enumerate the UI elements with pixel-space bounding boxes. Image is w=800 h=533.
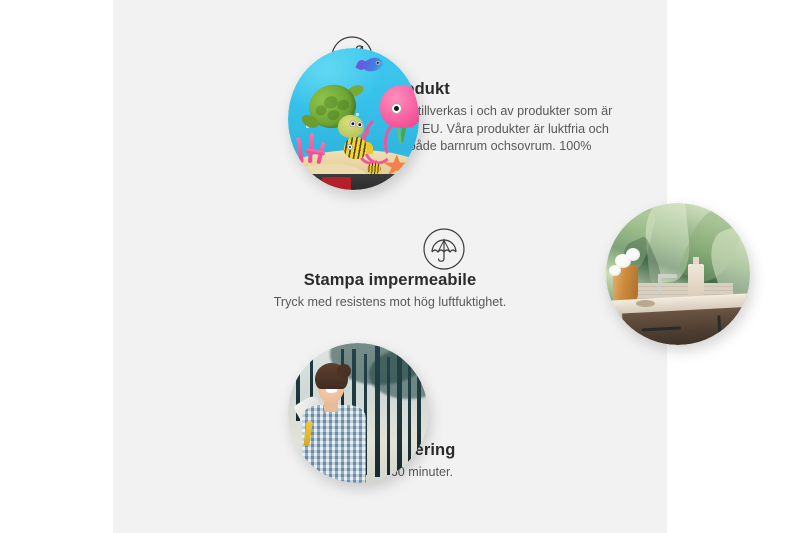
- octopus-head: [380, 85, 419, 128]
- turtle-eye: [349, 119, 357, 127]
- product-features-panel: Luktfri produkt Alla våra tavlor tillver…: [113, 0, 667, 533]
- feature-body: Tryck med resistens mot hög luftfuktighe…: [113, 294, 667, 312]
- left-white-margin: [0, 0, 113, 533]
- tree-trunk: [397, 349, 402, 475]
- shell-cell: [326, 108, 341, 121]
- turtle-pupil: [351, 122, 354, 125]
- turtle-pupil: [358, 123, 361, 126]
- yellow-fish: [344, 137, 366, 158]
- small-fish: [367, 163, 381, 174]
- tree-trunk: [417, 351, 421, 474]
- faucet-body: [658, 274, 662, 294]
- bathroom-scene-clip: [606, 203, 750, 345]
- feature-title: Stampa impermeabile: [113, 271, 667, 290]
- ocean-red-accent: [322, 177, 351, 190]
- underwater-scene-clip: [288, 48, 419, 190]
- fish-pupil: [349, 146, 351, 148]
- woman-scene-clip: [288, 343, 428, 483]
- fish-pupil: [376, 61, 378, 63]
- shell-cell: [336, 98, 350, 111]
- octopus-eye: [391, 103, 402, 114]
- plaid-shirt: [302, 405, 366, 483]
- tree-trunk: [387, 357, 390, 475]
- turtle-eye: [356, 121, 364, 129]
- hair-bun: [337, 364, 351, 378]
- soap-dispenser: [688, 264, 704, 295]
- bathroom-wallpaper-photo: [606, 203, 750, 345]
- wood-vanity: [622, 306, 750, 345]
- tree-trunk: [375, 346, 380, 478]
- woman-with-roller-photo: [288, 343, 428, 483]
- drawer-handle: [642, 326, 682, 331]
- fish-eye: [347, 144, 353, 150]
- umbrella-icon: [422, 227, 466, 271]
- tree-trunk: [310, 346, 313, 402]
- tree-trunk: [408, 360, 411, 472]
- ocean-bottom-strip: [306, 174, 400, 190]
- soap-dish: [636, 300, 655, 307]
- octopus-pupil: [394, 106, 399, 111]
- fish-eye: [375, 60, 380, 65]
- underwater-scene-photo: [288, 48, 419, 190]
- cabinet-handle: [718, 315, 722, 335]
